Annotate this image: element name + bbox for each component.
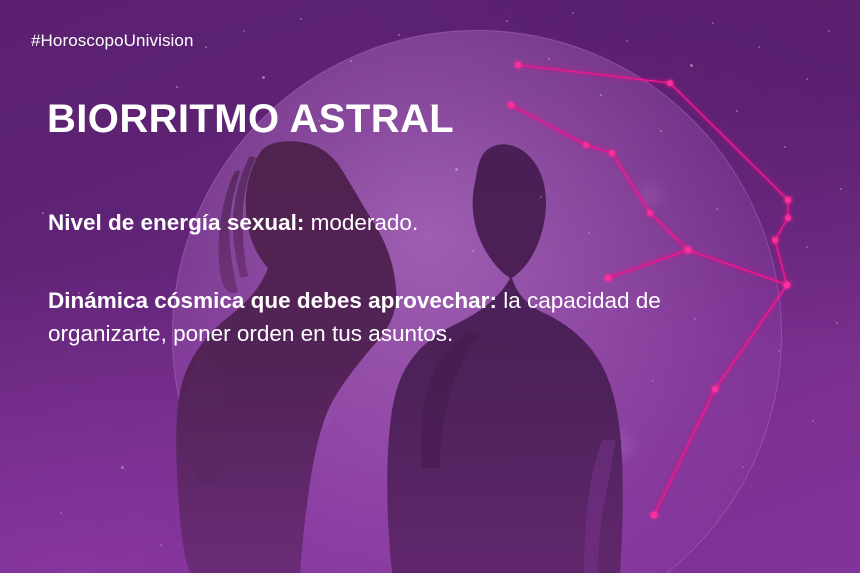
horoscope-card: #HoroscopoUnivision BIORRITMO ASTRAL Niv… xyxy=(0,0,860,573)
dynamic-line: Dinámica cósmica que debes aprovechar: l… xyxy=(48,284,748,351)
dynamic-label: Dinámica cósmica que debes aprovechar: xyxy=(48,288,497,313)
energy-label: Nivel de energía sexual: xyxy=(48,210,304,235)
energy-value: moderado. xyxy=(304,210,418,235)
energy-line: Nivel de energía sexual: moderado. xyxy=(48,206,748,239)
hashtag-label: #HoroscopoUnivision xyxy=(31,31,194,51)
page-title: BIORRITMO ASTRAL xyxy=(47,99,454,139)
text-content: #HoroscopoUnivision BIORRITMO ASTRAL Niv… xyxy=(0,0,860,573)
